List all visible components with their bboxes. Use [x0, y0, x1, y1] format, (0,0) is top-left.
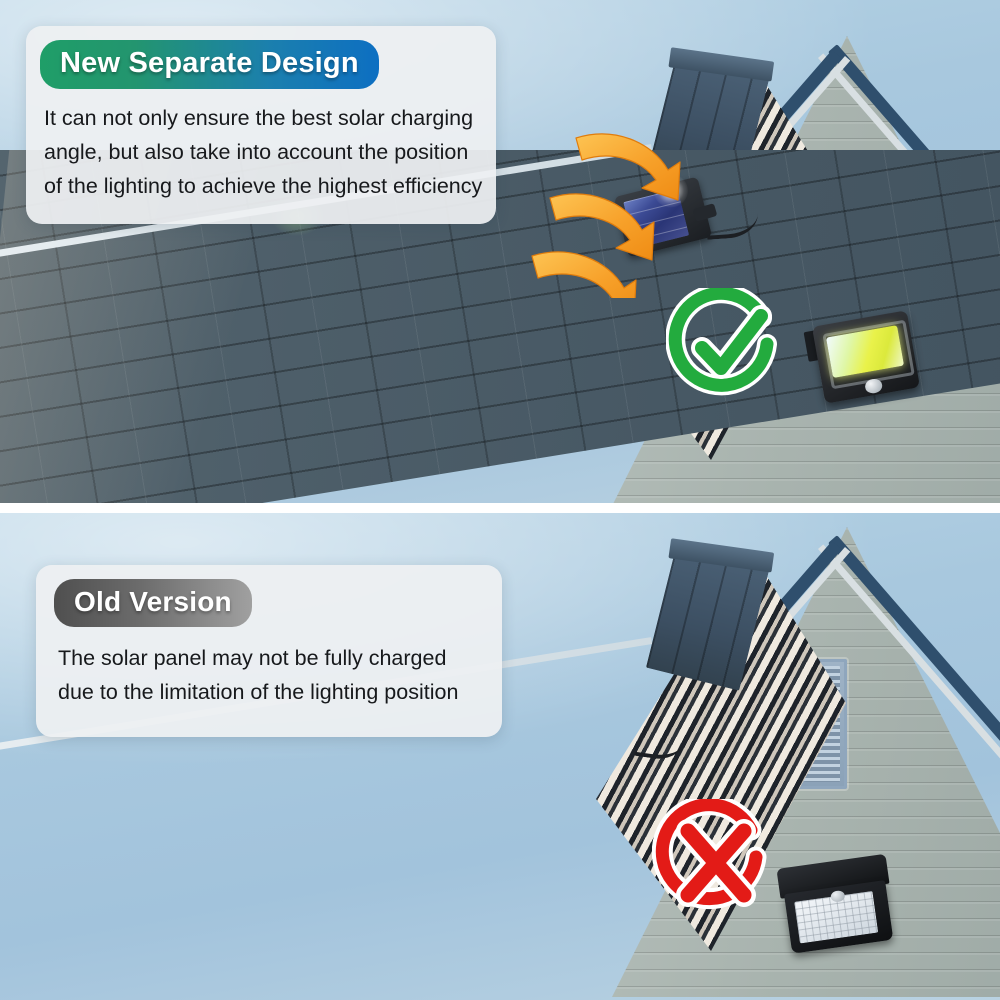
description-new-design: It can not only ensure the best solar ch… [26, 89, 496, 203]
arrow-1 [576, 134, 680, 200]
floodlight-new [812, 310, 920, 403]
wedge-light-old [776, 854, 897, 956]
badge-old-version: Old Version [54, 579, 252, 627]
check-mark-icon [666, 288, 786, 408]
foliage-foreground [0, 383, 1000, 503]
description-old-version: The solar panel may not be fully charged… [36, 627, 502, 709]
arrow-3 [532, 252, 636, 298]
sunlight-arrows [528, 128, 758, 298]
description-line: The solar panel may not be fully charged [58, 641, 502, 675]
arrow-2 [550, 194, 654, 260]
description-line: It can not only ensure the best solar ch… [44, 101, 496, 135]
description-line: due to the limitation of the lighting po… [58, 675, 502, 709]
infographic-canvas: New Separate Design It can not only ensu… [0, 0, 1000, 1000]
panel-old-version: Old Version The solar panel may not be f… [0, 513, 1000, 1000]
card-new-design: New Separate Design It can not only ensu… [26, 26, 496, 224]
description-line: angle, but also take into account the po… [44, 135, 496, 169]
panel-divider [0, 503, 1000, 513]
card-old-version: Old Version The solar panel may not be f… [36, 565, 502, 737]
description-line: of the lighting to achieve the highest e… [44, 169, 496, 203]
cross-mark-icon [652, 799, 776, 923]
panel-new-design: New Separate Design It can not only ensu… [0, 0, 1000, 503]
badge-new-separate-design: New Separate Design [40, 40, 379, 89]
